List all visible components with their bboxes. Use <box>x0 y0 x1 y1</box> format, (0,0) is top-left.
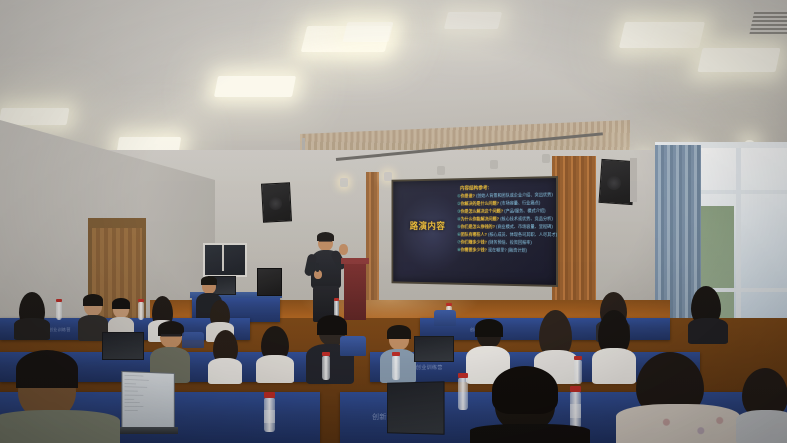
slide-line-prompt: 你是怎么解决这个问题? <box>461 209 503 214</box>
person-torso <box>208 358 242 384</box>
slide-line-prompt: 团队有哪些人? <box>461 232 487 237</box>
bottle-cap <box>322 352 330 356</box>
person-glasses-icon <box>161 334 181 337</box>
foreground-person-right <box>616 352 740 443</box>
slide-line-answer: (核心技术或优势、竞品分析) <box>499 216 553 221</box>
window-mullion-horizontal <box>700 190 787 194</box>
bottle-cap <box>56 299 62 302</box>
laptop-row2 <box>102 332 144 360</box>
foreground-laptop-screen[interactable]: ────────────────────────────────────────… <box>121 371 174 431</box>
slide-line-answer: (产品/服务、模式介绍) <box>503 208 545 213</box>
slide-line-list: ①你是谁? (创始人背景和团队或企业介绍、突出优势)②你解决的是什么问题? (市… <box>457 193 554 254</box>
slide-line: ③你是怎么解决这个问题? (产品/服务、模式介绍) <box>457 209 554 215</box>
slide-line-answer: (创始人背景和团队或企业介绍、突出优势) <box>475 192 553 198</box>
water-bottle <box>392 356 400 380</box>
laptop-document-text: ────────────────────────────────────────… <box>122 372 173 415</box>
slide-line-prompt: 你解决的是什么问题? <box>461 201 499 206</box>
slide-line: ②你解决的是什么问题? (市场容量、行业痛点) <box>457 201 554 207</box>
ceiling-light-panel <box>619 22 705 48</box>
slide-line: ⑥团队有哪些人? (核心成员、体现各司其职、人尽其才) <box>457 233 554 238</box>
microphone-icon <box>316 263 319 272</box>
chair <box>182 332 204 348</box>
audience-person <box>14 292 50 338</box>
speaker-cone-icon <box>607 176 621 190</box>
track-spotlight <box>490 160 498 169</box>
ceiling-light-panel <box>343 22 394 42</box>
person-hair <box>492 366 558 414</box>
wood-panel-wall-right <box>552 156 598 321</box>
person-torso <box>736 410 787 443</box>
slide-line: ⑦你们赚多少钱? (财务预估、投资回报率) <box>457 241 554 246</box>
bottle-cap <box>446 303 452 306</box>
water-bottle <box>458 378 468 410</box>
bottle-cap <box>574 356 582 360</box>
chair <box>340 336 366 356</box>
slide-line-prompt: 为什么你能解决问题? <box>461 217 499 222</box>
person-hair <box>317 315 347 335</box>
person-hair <box>387 325 411 339</box>
slide-line-answer: (商业模式、市场容量、里程碑) <box>495 224 553 229</box>
ceiling-light-panel <box>444 12 502 29</box>
slide-line-answer: (财务预估、投资回报率) <box>487 240 532 245</box>
bottle-cap <box>264 392 275 398</box>
laptop-row2 <box>414 336 454 362</box>
slide-line-answer: (核心成员、体现各司其职、人尽其才) <box>487 232 557 237</box>
chair <box>434 310 456 326</box>
audience-person <box>688 286 728 342</box>
slide-title: 路演内容 <box>400 219 455 232</box>
person-hair <box>83 294 103 306</box>
slide-line-prompt: 你是谁? <box>461 194 475 199</box>
person-torso <box>14 318 50 340</box>
person-torso <box>0 410 120 443</box>
foreground-person-left <box>0 358 120 443</box>
person-hair <box>742 368 787 416</box>
ceiling-light-panel <box>0 108 69 125</box>
person-torso <box>470 424 590 443</box>
slide-line-prompt: 你们是怎么挣钱的? <box>461 224 495 229</box>
water-bottle <box>56 302 62 320</box>
track-spotlight <box>437 166 445 175</box>
podium-top <box>341 258 369 264</box>
slide-line: ①你是谁? (创始人背景和团队或企业介绍、突出优势) <box>457 193 554 199</box>
bottle-cap <box>458 373 468 378</box>
track-spotlight <box>542 154 550 163</box>
slide-body: 内容结构参考: ①你是谁? (创始人背景和团队或企业介绍、突出优势)②你解决的是… <box>457 183 554 257</box>
person-floral-pattern <box>650 412 732 443</box>
foreground-laptop-2[interactable] <box>387 381 444 435</box>
bottle-label <box>264 410 275 423</box>
audience-person <box>256 326 294 382</box>
speaker-mount-bracket <box>630 158 637 202</box>
slide-line-answer: (市场容量、行业痛点) <box>499 200 540 205</box>
stage-monitor-speaker <box>257 268 282 296</box>
ceiling-air-vent <box>749 10 787 34</box>
person-hair <box>112 298 130 309</box>
person-torso <box>688 318 728 344</box>
operator-hair <box>201 276 217 285</box>
ceiling-light-panel <box>697 48 780 72</box>
slide-line: ⑧你需要多少钱? 现在哪里? (融资计划) <box>457 249 554 255</box>
slide-line: ④为什么你能解决问题? (核心技术或优势、竞品分析) <box>457 217 554 222</box>
bottle-cap <box>138 299 144 302</box>
person-torso <box>256 355 294 383</box>
bottle-cap <box>392 352 400 356</box>
water-bottle <box>322 356 330 380</box>
foreground-person-center <box>470 376 590 443</box>
track-spotlight <box>340 178 348 187</box>
control-room-window-divider <box>222 245 224 271</box>
audience-person <box>208 330 242 382</box>
window-mullion-vertical <box>736 148 741 326</box>
presenter-raised-hand <box>339 244 348 255</box>
control-room-window <box>203 243 247 277</box>
water-bottle <box>138 302 144 320</box>
ceiling-light-panel <box>214 76 296 97</box>
foreground-laptop-base <box>118 427 178 434</box>
bottle-cap <box>334 298 339 301</box>
lecture-hall-photo: 路演内容 内容结构参考: ①你是谁? (创始人背景和团队或企业介绍、突出优势)②… <box>0 0 787 443</box>
speaker-cone-icon <box>269 197 282 210</box>
person-hair <box>475 319 503 337</box>
podium <box>344 262 366 320</box>
slide-line-answer: 现在哪里? (融资计划) <box>487 248 527 253</box>
slide-heading: 内容结构参考: <box>460 183 554 192</box>
wood-panel-wall-left <box>366 172 379 312</box>
person-hair <box>16 350 78 388</box>
foreground-person-far-right <box>736 368 787 443</box>
slide-line-prompt: 你们赚多少钱? <box>461 240 487 245</box>
projection-screen: 路演内容 内容结构参考: ①你是谁? (创始人背景和团队或企业介绍、突出优势)②… <box>392 176 558 287</box>
slide-line-prompt: 你需要多少钱? <box>461 248 487 253</box>
slide-line: ⑤你们是怎么挣钱的? (商业模式、市场容量、里程碑) <box>457 225 554 230</box>
presenter-glasses-icon <box>319 240 332 242</box>
